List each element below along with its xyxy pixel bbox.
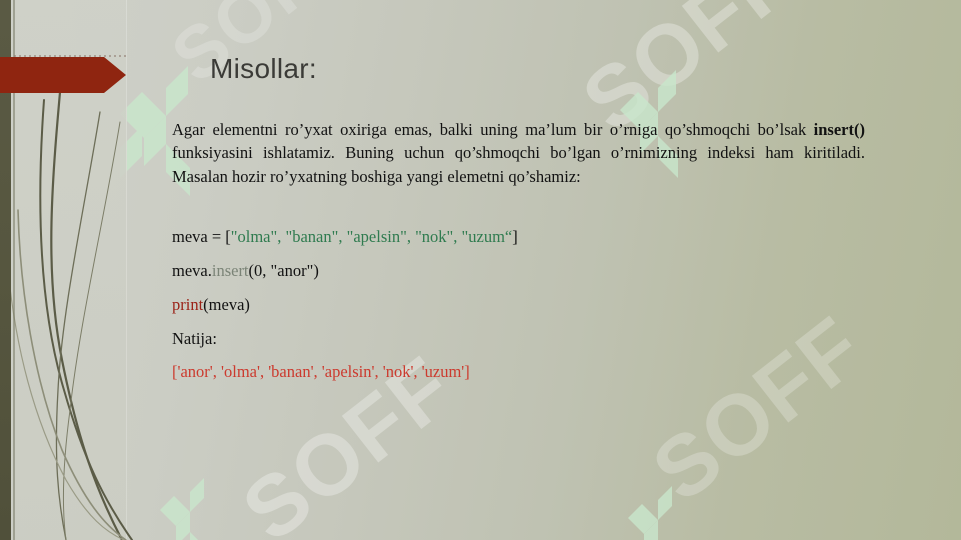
paragraph-run-3: funksiyasini ishlatamiz. Buning uchun qo…	[172, 143, 865, 185]
watermark-soff: SOFF	[635, 297, 883, 521]
dotted-rule-decor	[14, 55, 129, 57]
code-bracket-close: ]	[512, 227, 518, 246]
code-print-args: (meva)	[203, 295, 250, 314]
paragraph-run-2-bold: insert()	[814, 120, 865, 139]
code-line-print: print(meva)	[172, 294, 250, 316]
code-var-meva: meva = [	[172, 227, 231, 246]
left-decor-edge	[126, 0, 127, 540]
body-paragraph: Agar elementni ro’yxat oxiriga emas, bal…	[172, 118, 865, 188]
k-logo-icon	[160, 470, 222, 540]
slide-title: Misollar:	[210, 53, 317, 85]
body-paragraph-block: Agar elementni ro’yxat oxiriga emas, bal…	[172, 118, 865, 188]
code-line-insert: meva.insert(0, "anor")	[172, 260, 319, 282]
code-object-meva: meva.	[172, 261, 212, 280]
code-line-assign: meva = ["olma", "banan", "apelsin", "nok…	[172, 226, 518, 248]
red-arrow-banner	[0, 57, 126, 93]
paragraph-run-1: Agar elementni ro’yxat oxiriga emas, bal…	[172, 120, 814, 139]
output-value: ['anor', 'olma', 'banan', 'apelsin', 'no…	[172, 361, 470, 383]
code-insert-args: (0, "anor")	[249, 261, 319, 280]
code-method-insert: insert	[212, 261, 249, 280]
code-keyword-print: print	[172, 295, 203, 314]
output-label: Natija:	[172, 328, 217, 350]
slide-canvas: SOFF SOFF SOFF SOFF	[0, 0, 961, 540]
code-string-list: "olma", "banan", "apelsin", "nok", "uzum…	[231, 227, 512, 246]
